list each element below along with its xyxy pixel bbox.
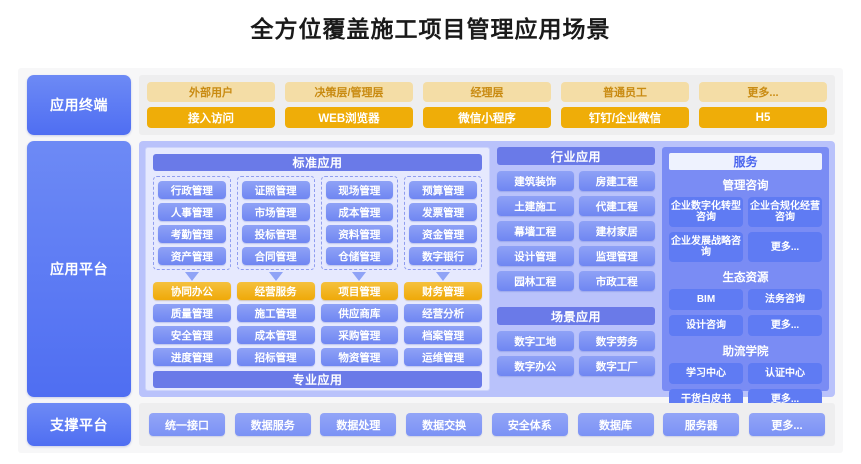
app-chip[interactable]: 人事管理 <box>158 203 226 221</box>
industry-scene-column: 行业应用 建筑装饰 房建工程 土建施工 代建工程 幕墙工程 建材家居 设计管理 … <box>497 147 655 391</box>
app-chip[interactable]: 成本管理 <box>326 203 394 221</box>
app-chip[interactable]: 证照管理 <box>242 181 310 199</box>
scene-grid: 数字工地 数字劳务 数字办公 数字工厂 <box>497 331 655 376</box>
app-chip[interactable]: 资金管理 <box>409 225 477 243</box>
support-chip[interactable]: 数据交换 <box>406 413 482 436</box>
support-chip[interactable]: 服务器 <box>663 413 739 436</box>
terminal-column: 决策层/管理层 WEB浏览器 <box>285 82 413 128</box>
app-chip[interactable]: 经营分析 <box>404 304 482 322</box>
layer-rail: 应用终端 应用平台 支撑平台 <box>27 68 131 453</box>
terminal-column: 外部用户 接入访问 <box>147 82 275 128</box>
service-chip[interactable]: 法务咨询 <box>748 289 822 310</box>
standard-apps-header: 标准应用 <box>153 154 482 171</box>
terminal-role: 外部用户 <box>147 82 275 102</box>
professional-apps-group: 财务管理 经营分析 档案管理 运维管理 <box>404 282 482 366</box>
app-chip[interactable]: 物资管理 <box>321 348 399 366</box>
terminal-column: 普通员工 钉钉/企业微信 <box>561 82 689 128</box>
services-group-title: 管理咨询 <box>669 177 822 193</box>
support-chip[interactable]: 数据服务 <box>235 413 311 436</box>
arrow-down-icon <box>436 272 450 281</box>
terminal-strip: 外部用户 接入访问 决策层/管理层 WEB浏览器 经理层 微信小程序 普通员工 … <box>139 75 835 135</box>
industry-chip[interactable]: 幕墙工程 <box>497 221 574 241</box>
app-chip[interactable]: 安全管理 <box>153 326 231 344</box>
service-chip[interactable]: 企业发展战略咨询 <box>669 232 743 262</box>
terminal-role: 经理层 <box>423 82 551 102</box>
industry-chip[interactable]: 市政工程 <box>579 271 656 291</box>
service-chip[interactable]: 更多... <box>748 232 822 262</box>
industry-chip[interactable]: 代建工程 <box>579 196 656 216</box>
terminal-column: 更多... H5 <box>699 82 827 128</box>
services-group-grid: BIM 法务咨询 设计咨询 更多... <box>669 289 822 336</box>
app-chip[interactable]: 行政管理 <box>158 181 226 199</box>
industry-chip[interactable]: 设计管理 <box>497 246 574 266</box>
standard-apps-group: 证照管理 市场管理 投标管理 合同管理 <box>237 176 315 270</box>
app-group-head[interactable]: 财务管理 <box>404 282 482 300</box>
services-group-title: 生态资源 <box>669 269 822 285</box>
app-chip[interactable]: 运维管理 <box>404 348 482 366</box>
rail-item-support[interactable]: 支撑平台 <box>27 403 131 446</box>
arrow-cell <box>321 272 399 281</box>
support-strip: 统一接口 数据服务 数据处理 数据交换 安全体系 数据库 服务器 更多... <box>139 403 835 446</box>
terminal-channel[interactable]: 接入访问 <box>147 107 275 128</box>
arrow-cell <box>404 272 482 281</box>
support-chip[interactable]: 安全体系 <box>492 413 568 436</box>
scene-panel: 场景应用 数字工地 数字劳务 数字办公 数字工厂 <box>497 307 655 376</box>
app-chip[interactable]: 资产管理 <box>158 247 226 265</box>
terminal-channel[interactable]: 微信小程序 <box>423 107 551 128</box>
architecture-board: 应用终端 应用平台 支撑平台 外部用户 接入访问 决策层/管理层 WEB浏览器 … <box>18 68 843 453</box>
service-chip[interactable]: 更多... <box>748 315 822 336</box>
terminal-role: 更多... <box>699 82 827 102</box>
app-chip[interactable]: 合同管理 <box>242 247 310 265</box>
services-group-grid: 企业数字化转型咨询 企业合规化经营咨询 企业发展战略咨询 更多... <box>669 197 822 262</box>
professional-apps-header: 专业应用 <box>153 371 482 388</box>
service-chip[interactable]: 学习中心 <box>669 363 743 384</box>
scene-chip[interactable]: 数字工厂 <box>579 356 656 376</box>
support-chip[interactable]: 统一接口 <box>149 413 225 436</box>
rail-item-terminal[interactable]: 应用终端 <box>27 75 131 135</box>
terminal-channel[interactable]: 钉钉/企业微信 <box>561 107 689 128</box>
scene-header: 场景应用 <box>497 307 655 325</box>
service-chip[interactable]: 企业合规化经营咨询 <box>748 197 822 227</box>
app-chip[interactable]: 预算管理 <box>409 181 477 199</box>
support-chip[interactable]: 数据处理 <box>320 413 396 436</box>
apps-panel: 标准应用 行政管理 人事管理 考勤管理 资产管理 证照管理 市场管理 投标管理 … <box>145 147 490 391</box>
arrow-cell <box>153 272 231 281</box>
professional-apps-group: 项目管理 供应商库 采购管理 物资管理 <box>321 282 399 366</box>
industry-chip[interactable]: 园林工程 <box>497 271 574 291</box>
app-group-head[interactable]: 经营服务 <box>237 282 315 300</box>
industry-header: 行业应用 <box>497 147 655 165</box>
service-chip[interactable]: BIM <box>669 289 743 310</box>
industry-chip[interactable]: 建筑装饰 <box>497 171 574 191</box>
app-chip[interactable]: 投标管理 <box>242 225 310 243</box>
app-group-head[interactable]: 协同办公 <box>153 282 231 300</box>
scene-chip[interactable]: 数字工地 <box>497 331 574 351</box>
app-chip[interactable]: 市场管理 <box>242 203 310 221</box>
app-chip[interactable]: 施工管理 <box>237 304 315 322</box>
service-chip[interactable]: 企业数字化转型咨询 <box>669 197 743 227</box>
app-chip[interactable]: 仓储管理 <box>326 247 394 265</box>
terminal-role: 普通员工 <box>561 82 689 102</box>
app-chip[interactable]: 档案管理 <box>404 326 482 344</box>
scene-chip[interactable]: 数字劳务 <box>579 331 656 351</box>
arrow-cell <box>237 272 315 281</box>
industry-panel: 行业应用 建筑装饰 房建工程 土建施工 代建工程 幕墙工程 建材家居 设计管理 … <box>497 147 655 291</box>
industry-chip[interactable]: 监理管理 <box>579 246 656 266</box>
services-group-title: 助流学院 <box>669 343 822 359</box>
app-chip[interactable]: 考勤管理 <box>158 225 226 243</box>
app-chip[interactable]: 进度管理 <box>153 348 231 366</box>
app-chip[interactable]: 现场管理 <box>326 181 394 199</box>
app-chip[interactable]: 成本管理 <box>237 326 315 344</box>
arrow-down-icon <box>352 272 366 281</box>
industry-chip[interactable]: 房建工程 <box>579 171 656 191</box>
professional-apps-group: 协同办公 质量管理 安全管理 进度管理 <box>153 282 231 366</box>
app-chip[interactable]: 供应商库 <box>321 304 399 322</box>
standard-apps-grid: 行政管理 人事管理 考勤管理 资产管理 证照管理 市场管理 投标管理 合同管理 … <box>153 176 482 270</box>
app-group-head[interactable]: 项目管理 <box>321 282 399 300</box>
terminal-column: 经理层 微信小程序 <box>423 82 551 128</box>
app-chip[interactable]: 采购管理 <box>321 326 399 344</box>
services-header: 服务 <box>669 153 822 170</box>
service-chip[interactable]: 认证中心 <box>748 363 822 384</box>
professional-apps-group: 经营服务 施工管理 成本管理 招标管理 <box>237 282 315 366</box>
terminal-channel[interactable]: H5 <box>699 107 827 128</box>
service-chip[interactable]: 设计咨询 <box>669 315 743 336</box>
arrow-down-icon <box>185 272 199 281</box>
app-chip[interactable]: 数字银行 <box>409 247 477 265</box>
page-title: 全方位覆盖施工项目管理应用场景 <box>0 0 861 50</box>
app-chip[interactable]: 质量管理 <box>153 304 231 322</box>
rail-item-platform[interactable]: 应用平台 <box>27 141 131 397</box>
professional-apps-grid: 协同办公 质量管理 安全管理 进度管理 经营服务 施工管理 成本管理 招标管理 … <box>153 282 482 366</box>
terminal-channel[interactable]: WEB浏览器 <box>285 107 413 128</box>
standard-apps-group: 预算管理 发票管理 资金管理 数字银行 <box>404 176 482 270</box>
spacer <box>497 291 655 307</box>
flow-arrows <box>153 272 482 281</box>
arrow-down-icon <box>269 272 283 281</box>
standard-apps-group: 行政管理 人事管理 考勤管理 资产管理 <box>153 176 231 270</box>
infographic-page: 全方位覆盖施工项目管理应用场景 应用终端 应用平台 支撑平台 外部用户 接入访问… <box>0 0 861 464</box>
industry-chip[interactable]: 土建施工 <box>497 196 574 216</box>
industry-grid: 建筑装饰 房建工程 土建施工 代建工程 幕墙工程 建材家居 设计管理 监理管理 … <box>497 171 655 291</box>
application-platform: 标准应用 行政管理 人事管理 考勤管理 资产管理 证照管理 市场管理 投标管理 … <box>139 141 835 397</box>
support-chip[interactable]: 更多... <box>749 413 825 436</box>
app-chip[interactable]: 发票管理 <box>409 203 477 221</box>
standard-apps-group: 现场管理 成本管理 资料管理 仓储管理 <box>321 176 399 270</box>
support-chip[interactable]: 数据库 <box>578 413 654 436</box>
industry-chip[interactable]: 建材家居 <box>579 221 656 241</box>
app-chip[interactable]: 招标管理 <box>237 348 315 366</box>
app-chip[interactable]: 资料管理 <box>326 225 394 243</box>
services-panel: 服务 管理咨询 企业数字化转型咨询 企业合规化经营咨询 企业发展战略咨询 更多.… <box>662 147 829 391</box>
terminal-role: 决策层/管理层 <box>285 82 413 102</box>
scene-chip[interactable]: 数字办公 <box>497 356 574 376</box>
